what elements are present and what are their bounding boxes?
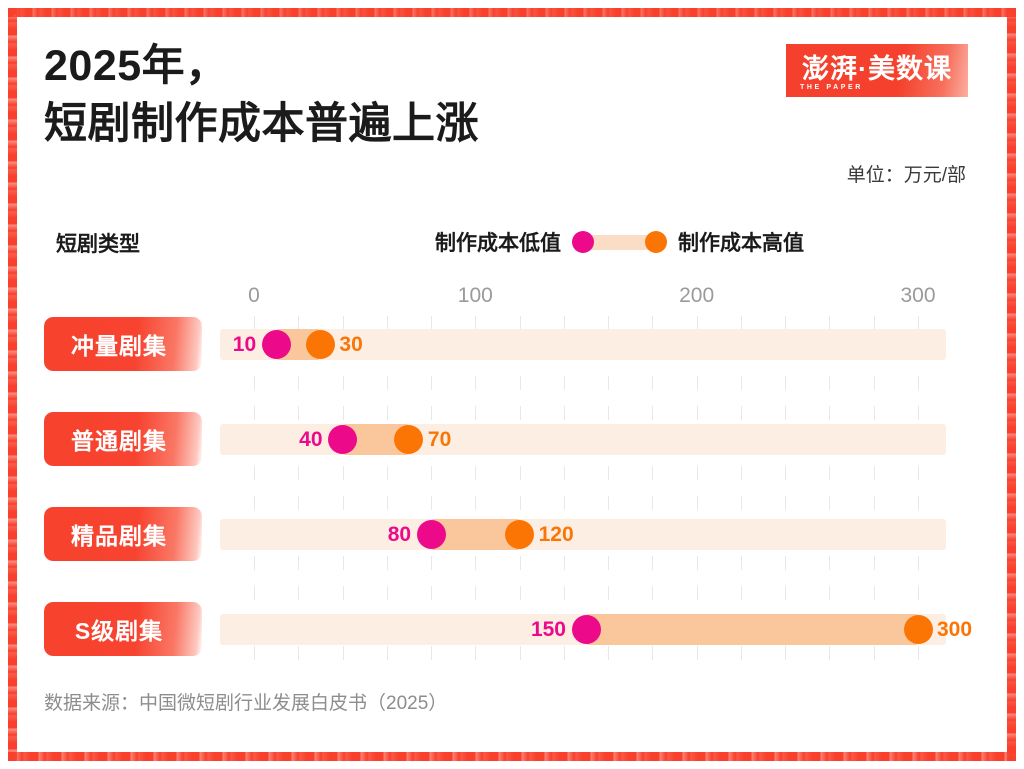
legend: 制作成本低值 制作成本高值 [435,227,804,257]
gridline [785,316,786,668]
gridline [652,316,653,668]
logo-subtitle: THE PAPER [800,84,863,91]
category-pill-label: 精品剧集 [71,517,167,551]
legend-high-dot [645,231,667,253]
x-axis-tick-label: 200 [679,284,714,308]
row-track [220,329,946,360]
gridline [475,316,476,668]
row-track [220,519,946,550]
gridline [254,316,255,668]
logo-wordmark: 澎湃·美数课 [802,56,952,83]
legend-low-label: 制作成本低值 [435,227,561,257]
low-value-dot[interactable] [417,520,446,549]
source-note: 数据来源：中国微短剧行业发展白皮书（2025） [44,688,447,715]
page-title-line2: 短剧制作成本普遍上涨 [44,100,479,148]
gridline [741,316,742,668]
gridline [697,316,698,668]
high-value-label: 120 [539,522,574,548]
category-pill[interactable]: S级剧集 [44,602,202,656]
chart-row[interactable]: 冲量剧集1030 [0,311,1024,381]
gridline [564,316,565,668]
x-axis-tick-label: 300 [900,284,935,308]
range-fill [343,424,409,455]
gridline [608,316,609,668]
publisher-logo: 澎湃·美数课 THE PAPER [786,44,968,97]
range-fill [431,519,520,550]
frame-border-top [8,8,1016,17]
low-value-dot[interactable] [262,330,291,359]
page-title-line1: 2025年， [44,42,229,90]
legend-high-label: 制作成本高值 [678,227,804,257]
x-axis-tick-label: 0 [248,284,260,308]
low-value-label: 150 [531,617,566,643]
legend-swatch [572,231,667,253]
gridline [387,316,388,668]
x-axis-tick-label: 100 [458,284,493,308]
high-value-dot[interactable] [306,330,335,359]
category-pill[interactable]: 精品剧集 [44,507,202,561]
gridline [829,316,830,668]
low-value-label: 40 [299,427,322,453]
low-value-dot[interactable] [572,615,601,644]
high-value-label: 300 [937,617,972,643]
frame-border-right [1007,8,1016,761]
chart-row[interactable]: 精品剧集80120 [0,501,1024,571]
range-fill [586,614,918,645]
low-value-label: 10 [233,332,256,358]
category-pill-label: S级剧集 [75,612,163,646]
row-track [220,424,946,455]
high-value-dot[interactable] [904,615,933,644]
infographic-page: 2025年， 短剧制作成本普遍上涨 澎湃·美数课 THE PAPER 单位：万元… [0,0,1024,769]
gridline [431,316,432,668]
low-value-label: 80 [388,522,411,548]
low-value-dot[interactable] [328,425,357,454]
category-pill[interactable]: 普通剧集 [44,412,202,466]
high-value-label: 30 [339,332,362,358]
gridline [343,316,344,668]
gridline [874,316,875,668]
frame-border-left [8,8,17,761]
range-fill [276,329,320,360]
category-column-header: 短剧类型 [56,228,140,258]
gridline [918,316,919,668]
high-value-dot[interactable] [394,425,423,454]
chart-row[interactable]: S级剧集150300 [0,596,1024,666]
gridline [520,316,521,668]
legend-low-dot [572,231,594,253]
page-title: 2025年， 短剧制作成本普遍上涨 [44,38,479,153]
category-pill[interactable]: 冲量剧集 [44,317,202,371]
unit-label: 单位：万元/部 [847,160,966,187]
category-pill-label: 普通剧集 [71,422,167,456]
frame-border-bottom [8,752,1016,761]
category-pill-label: 冲量剧集 [71,327,167,361]
chart-row[interactable]: 普通剧集4070 [0,406,1024,476]
high-value-label: 70 [428,427,451,453]
row-track [220,614,946,645]
high-value-dot[interactable] [505,520,534,549]
gridline [298,316,299,668]
